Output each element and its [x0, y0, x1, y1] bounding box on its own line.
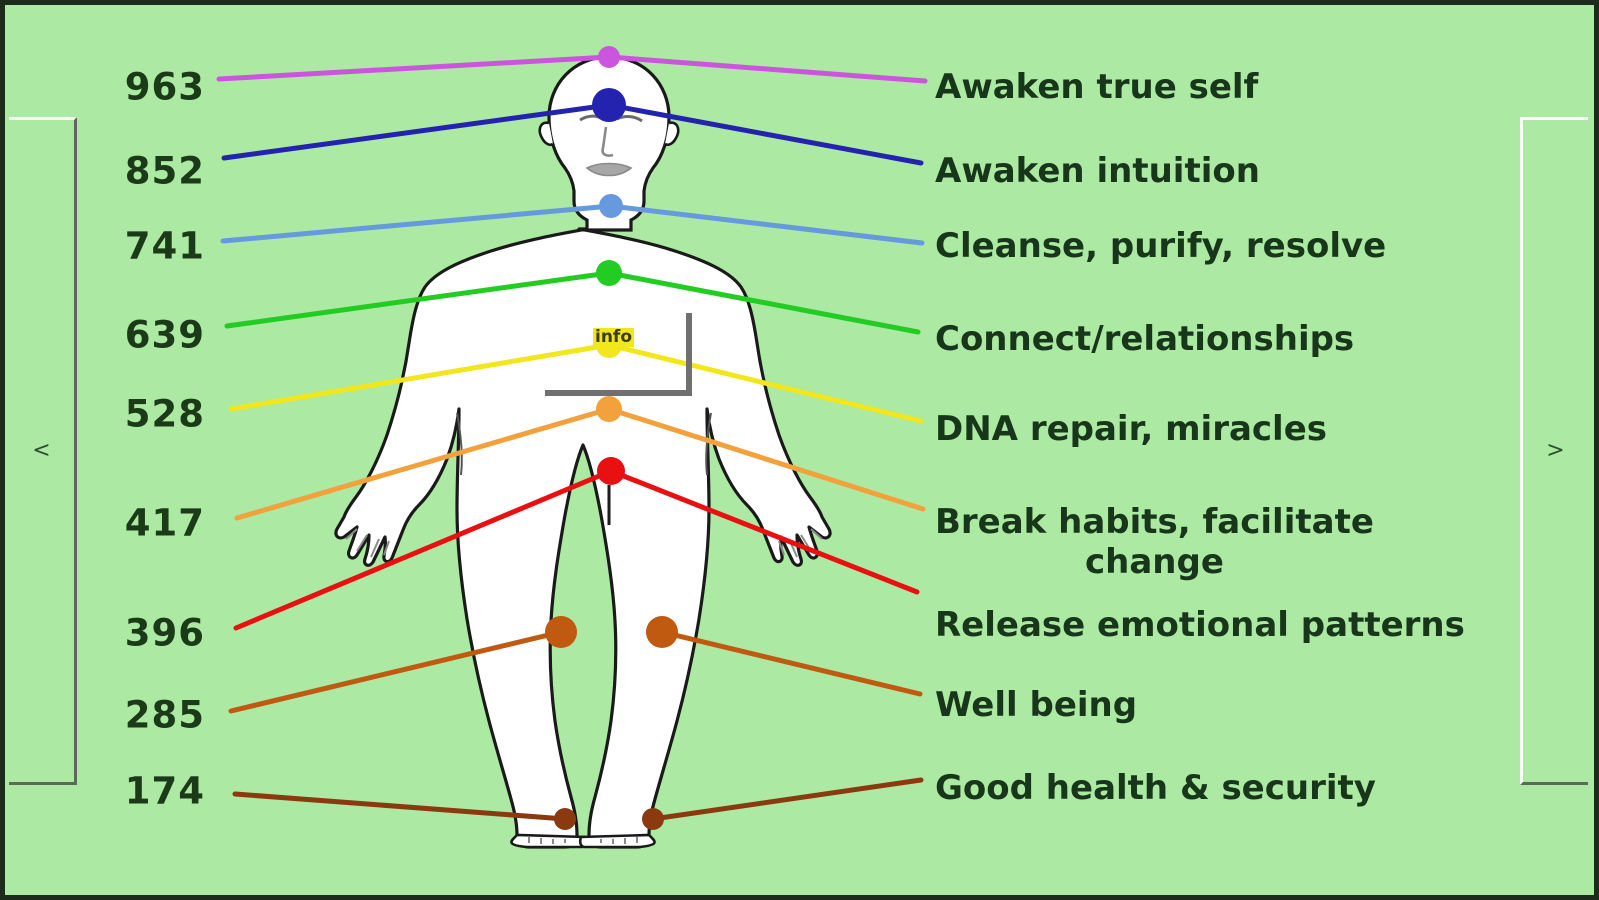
connector-line-left-963	[219, 57, 609, 79]
info-badge[interactable]: info	[593, 328, 634, 347]
chakra-dot-heart	[596, 260, 622, 286]
benefit-label-root: Release emotional patterns	[935, 605, 1465, 645]
chakra-dot-crown	[598, 46, 620, 68]
benefit-label-ankles: Good health & security	[935, 768, 1376, 808]
benefit-label-third-eye: Awaken intuition	[935, 151, 1260, 191]
benefit-label-sacral: Break habits, facilitate change	[935, 502, 1374, 582]
chakra-dot-ankles	[642, 808, 664, 830]
human-figure	[336, 57, 830, 847]
benefit-label-knees: Well being	[935, 685, 1137, 725]
chevron-right-icon: >	[1546, 440, 1564, 462]
benefit-label-heart: Connect/relationships	[935, 319, 1354, 359]
chakra-dot-root	[597, 457, 625, 485]
chakra-dot-sacral	[596, 396, 622, 422]
chevron-left-icon: <	[32, 440, 50, 462]
chakra-dot-knees	[545, 616, 577, 648]
benefit-label-crown: Awaken true self	[935, 67, 1258, 107]
previous-slide-button[interactable]: <	[9, 117, 77, 785]
benefit-label-throat: Cleanse, purify, resolve	[935, 226, 1386, 266]
connector-line-right-174	[653, 780, 921, 819]
chakra-dot-throat	[599, 194, 623, 218]
chakra-dot-ankles	[554, 808, 576, 830]
chakra-dot-third-eye	[592, 88, 626, 122]
chakra-chart-slide: 963852741639528417396285174 Awaken true …	[0, 0, 1599, 900]
connector-line-right-741	[611, 206, 922, 243]
next-slide-button[interactable]: >	[1520, 117, 1588, 785]
chakra-body-illustration	[5, 5, 1599, 900]
frequency-number-963: 963	[5, 66, 205, 109]
chakra-dot-knees	[646, 616, 678, 648]
benefit-label-solar-plexus: DNA repair, miracles	[935, 409, 1327, 449]
connector-line-right-285	[662, 632, 920, 694]
